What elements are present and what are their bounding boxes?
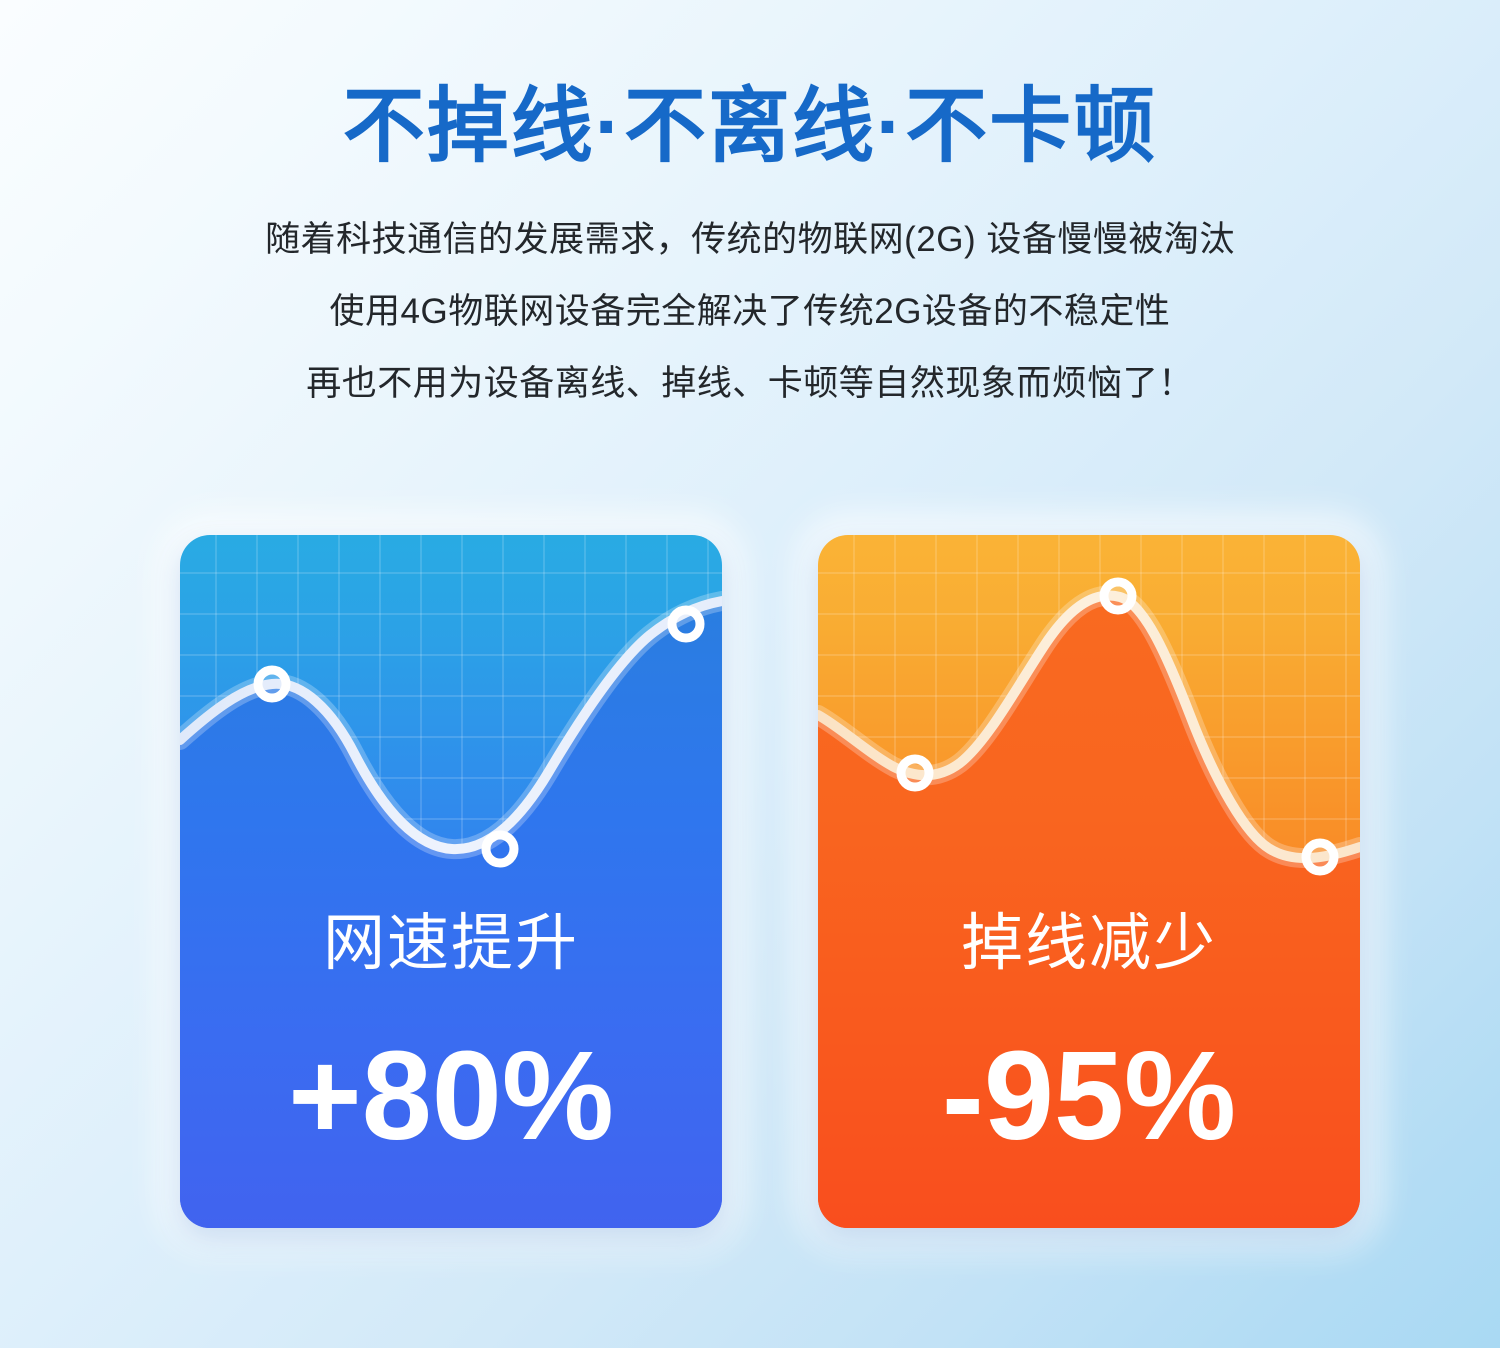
stat-card-dropout-reduction: 掉线减少 -95%	[818, 535, 1360, 1228]
page-title: 不掉线·不离线·不卡顿	[0, 0, 1500, 168]
stat-cards-row: 网速提升 +80%	[0, 535, 1500, 1235]
subtitle-line-1: 随着科技通信的发展需求，传统的物联网(2G) 设备慢慢被淘汰	[0, 204, 1500, 276]
card-value-speed-increase: +80%	[180, 1033, 722, 1159]
promo-page: 不掉线·不离线·不卡顿 随着科技通信的发展需求，传统的物联网(2G) 设备慢慢被…	[0, 0, 1500, 1348]
card-label-dropout-reduction: 掉线减少	[818, 913, 1360, 975]
card-label-speed-increase: 网速提升	[180, 913, 722, 975]
subtitle-block: 随着科技通信的发展需求，传统的物联网(2G) 设备慢慢被淘汰 使用4G物联网设备…	[0, 168, 1500, 420]
subtitle-line-2: 使用4G物联网设备完全解决了传统2G设备的不稳定性	[0, 276, 1500, 348]
card-surface-orange: 掉线减少 -95%	[818, 535, 1360, 1228]
subtitle-line-3: 再也不用为设备离线、掉线、卡顿等自然现象而烦恼了！	[0, 348, 1500, 420]
card-surface-blue: 网速提升 +80%	[180, 535, 722, 1228]
card-value-dropout-reduction: -95%	[818, 1033, 1360, 1159]
header: 不掉线·不离线·不卡顿 随着科技通信的发展需求，传统的物联网(2G) 设备慢慢被…	[0, 0, 1500, 420]
stat-card-speed-increase: 网速提升 +80%	[180, 535, 722, 1228]
